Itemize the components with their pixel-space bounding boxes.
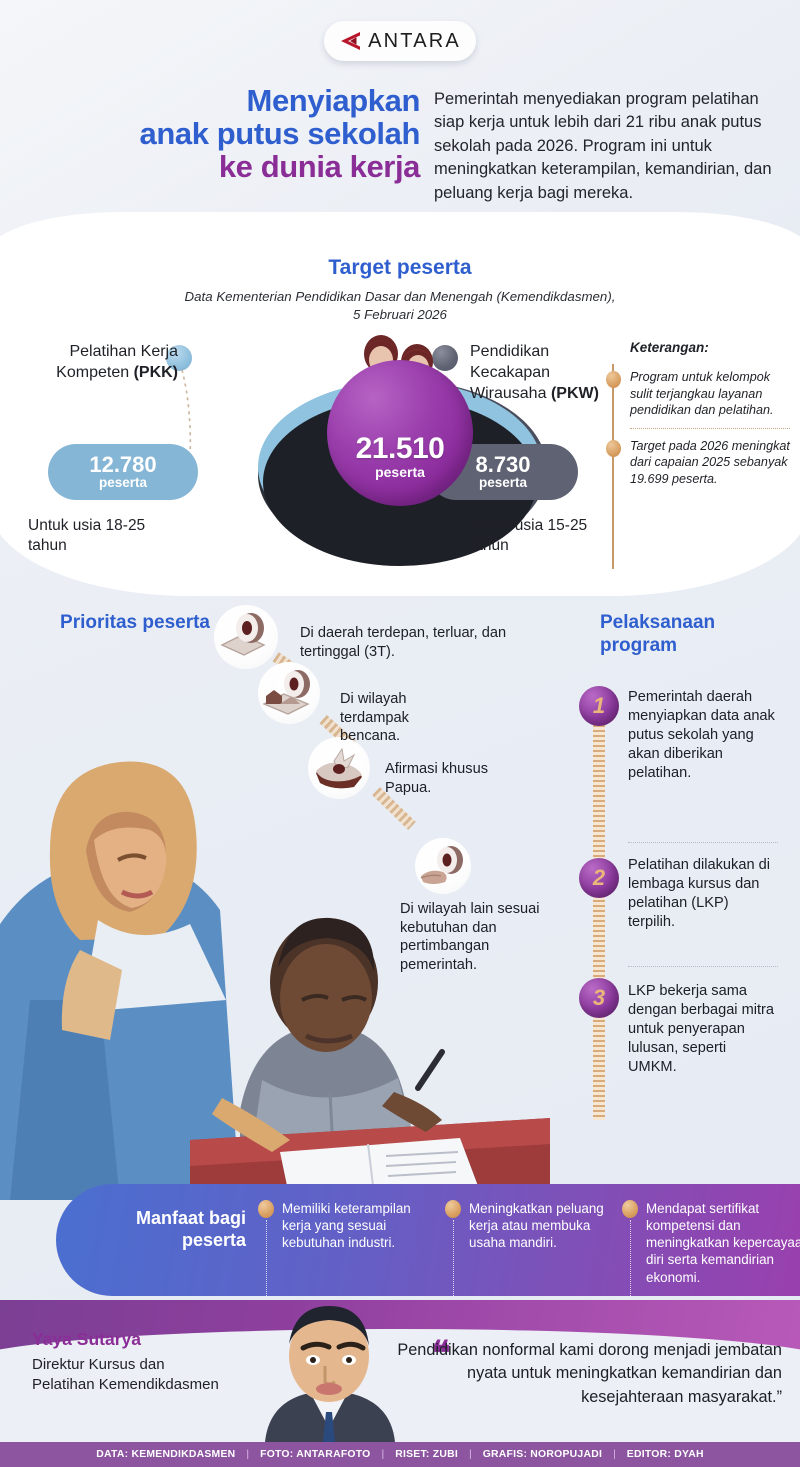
manfaat-rail: [453, 1220, 454, 1296]
pkk-abbr: (PKK): [134, 364, 178, 381]
pkw-value: 8.730: [475, 453, 530, 476]
pkw-label-text: Pendidikan Kecakapan Wirausaha: [470, 343, 550, 402]
credit-data: DATA: KEMENDIKDASMEN: [85, 1449, 246, 1460]
prioritas-item-text: Di wilayah lain sesuai kebutuhan dan per…: [400, 900, 540, 975]
manfaat-item: Mendapat sertifikat kompetensi dan menin…: [646, 1200, 800, 1286]
keterangan-heading: Keterangan:: [630, 340, 790, 355]
prioritas-icon-2: [258, 662, 320, 724]
keterangan-item: Program untuk kelompok sulit terjangkau …: [630, 369, 790, 428]
step-badge-1: 1: [579, 686, 619, 726]
pkw-age: Untuk usia 15-25 tahun: [470, 516, 630, 556]
prioritas-icon-4: [415, 838, 471, 894]
step-text-1: Pemerintah daerah menyiapkan data anak p…: [628, 688, 778, 783]
map-pin-hand-icon: [415, 838, 471, 894]
manfaat-bullet-icon: [258, 1200, 274, 1218]
step-text-2: Pelatihan dilakukan di lembaga kursus da…: [628, 856, 778, 932]
total-unit: peserta: [375, 464, 425, 480]
keterangan-rail: [612, 364, 614, 569]
manfaat-bullet-icon: [445, 1200, 461, 1218]
infographic-page: ANTARA Menyiapkan anak putus sekolah ke …: [0, 0, 800, 1467]
manfaat-rail: [630, 1220, 631, 1296]
map-pin-region-icon: [214, 605, 278, 669]
map-pin-papua-icon: [308, 737, 370, 799]
pkw-abbr: (PKW): [551, 385, 599, 402]
manfaat-heading: Manfaat bagi peserta: [96, 1208, 246, 1252]
keterangan-item: Target pada 2026 meningkat dari capaian …: [630, 428, 790, 497]
credit-foto: FOTO: ANTARAFOTO: [249, 1449, 381, 1460]
credit-grafis: GRAFIS: NOROPUJADI: [472, 1449, 613, 1460]
speaker-name: Yaya Sutarya: [32, 1329, 141, 1350]
manfaat-item-text: Memiliki keterampilan kerja yang sesuai …: [282, 1201, 411, 1250]
total-bubble: 21.510 peserta: [327, 360, 473, 506]
manfaat-item-text: Mendapat sertifikat kompetensi dan menin…: [646, 1201, 800, 1285]
lede-paragraph: Pemerintah menyediakan program pelatihan…: [434, 88, 786, 205]
map-pin-disaster-icon: [258, 662, 320, 724]
quote-text: Pendidikan nonformal kami dorong menjadi…: [370, 1339, 782, 1409]
section-title-prioritas: Prioritas peserta: [60, 612, 210, 635]
total-value: 21.510: [356, 432, 445, 466]
manfaat-item: Meningkatkan peluang kerja atau membuka …: [469, 1200, 609, 1251]
manfaat-rail: [266, 1220, 267, 1296]
keterangan-bullet-icon: [606, 440, 621, 457]
page-title: Menyiapkan anak putus sekolah ke dunia k…: [20, 84, 420, 183]
keterangan-bullet-icon: [606, 371, 621, 388]
manfaat-item: Memiliki keterampilan kerja yang sesuai …: [282, 1200, 432, 1251]
pkk-unit: peserta: [99, 476, 147, 491]
title-line-1: Menyiapkan: [20, 84, 420, 117]
pkk-age: Untuk usia 18-25 tahun: [28, 516, 178, 556]
pkk-label: Pelatihan Kerja Kompeten (PKK): [28, 342, 178, 384]
step-divider: [628, 842, 778, 843]
step-divider: [628, 966, 778, 967]
pelaksanaan-rail: [593, 700, 605, 1120]
title-line-2: anak putus sekolah: [20, 117, 420, 150]
source-note: Data Kementerian Pendidikan Dasar dan Me…: [180, 288, 620, 323]
section-title-pelaksanaan: Pelaksanaan program: [600, 612, 780, 658]
prioritas-icon-1: [214, 605, 278, 669]
step-badge-2: 2: [579, 858, 619, 898]
manfaat-item-text: Meningkatkan peluang kerja atau membuka …: [469, 1201, 604, 1250]
antara-logo-chip: ANTARA: [324, 21, 476, 61]
prioritas-item-text: Di wilayah terdampak bencana.: [340, 690, 470, 746]
step-text-3: LKP bekerja sama dengan berbagai mitra u…: [628, 982, 778, 1077]
pkw-label: Pendidikan Kecakapan Wirausaha (PKW): [470, 342, 630, 404]
pkk-value-pill: 12.780 peserta: [48, 444, 198, 500]
prioritas-item-text: Afirmasi khusus Papua.: [385, 760, 495, 797]
antara-triangle-logo-icon: [339, 31, 361, 51]
keterangan-item-text: Program untuk kelompok sulit terjangkau …: [630, 370, 774, 417]
section-title-target: Target peserta: [0, 256, 800, 280]
manfaat-bullet-icon: [622, 1200, 638, 1218]
title-line-3: ke dunia kerja: [20, 150, 420, 183]
manfaat-banner: Manfaat bagi peserta Memiliki keterampil…: [56, 1184, 800, 1296]
pkw-unit: peserta: [479, 476, 527, 491]
step-badge-3: 3: [579, 978, 619, 1018]
credit-riset: RISET: ZUBI: [384, 1449, 469, 1460]
keterangan-block: Keterangan: Program untuk kelompok sulit…: [630, 340, 790, 497]
pkk-value: 12.780: [89, 453, 156, 476]
keterangan-item-text: Target pada 2026 meningkat dari capaian …: [630, 439, 790, 486]
footer-credits-bar: DATA: KEMENDIKDASMEN | FOTO: ANTARAFOTO …: [0, 1442, 800, 1467]
credit-editor: EDITOR: DYAH: [616, 1449, 715, 1460]
antara-wordmark: ANTARA: [368, 30, 461, 53]
prioritas-item-text: Di daerah terdepan, terluar, dan terting…: [300, 624, 530, 661]
prioritas-icon-3: [308, 737, 370, 799]
speaker-role: Direktur Kursus dan Pelatihan Kemendikda…: [32, 1355, 222, 1394]
